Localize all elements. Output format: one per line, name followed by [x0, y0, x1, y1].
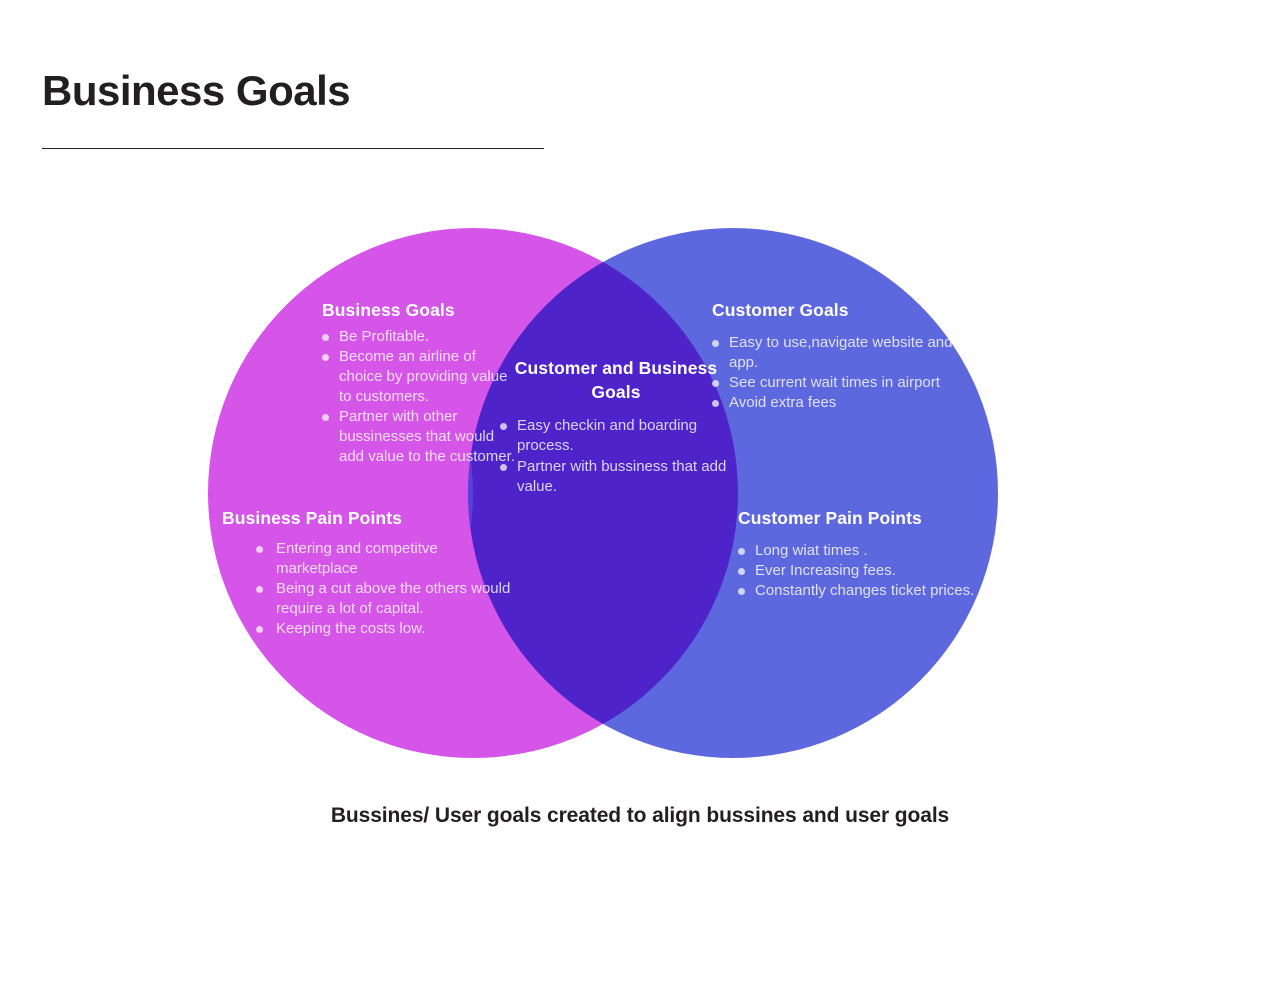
bullet-dot-icon	[712, 400, 719, 407]
list-item: Be Profitable.	[322, 327, 522, 347]
list-item-text: Avoid extra fees	[729, 394, 836, 411]
bullet-dot-icon	[712, 340, 719, 347]
diagram-caption: Bussines/ User goals created to align bu…	[0, 804, 1280, 828]
list-item-text: Entering and competitve marketplace	[276, 540, 438, 577]
list-item: Easy to use,navigate website and mobile …	[712, 333, 998, 373]
list-item-text: Become an airline of choice by providing…	[339, 348, 507, 405]
bullet-dot-icon	[322, 334, 329, 341]
list-item: Ever Increasing fees.	[738, 561, 988, 581]
list-business-goals: Be Profitable. Become an airline of choi…	[322, 327, 522, 467]
bullet-dot-icon	[712, 380, 719, 387]
section-heading-customer-goals: Customer Goals	[712, 300, 998, 321]
section-customer-goals: Customer Goals Easy to use,navigate webs…	[712, 300, 998, 413]
list-item-text: Easy to use,navigate website and mobile …	[729, 334, 998, 371]
bullet-dot-icon	[322, 354, 329, 361]
list-item: Become an airline of choice by providing…	[322, 347, 522, 407]
bullet-dot-icon	[738, 588, 745, 595]
list-item: Partner with other bussinesses that woul…	[322, 407, 522, 467]
section-heading-customer-and-business-goals: Customer and Business Goals	[500, 356, 732, 404]
list-item: Avoid extra fees	[712, 393, 998, 413]
bullet-dot-icon	[500, 464, 507, 471]
bullet-dot-icon	[256, 586, 263, 593]
list-item: Being a cut above the others would requi…	[256, 579, 512, 619]
list-item-text: Partner with bussiness that add value.	[517, 458, 726, 495]
list-item-text: Keeping the costs low.	[276, 620, 425, 637]
list-customer-goals: Easy to use,navigate website and mobile …	[712, 333, 998, 413]
list-business-pain-points: Entering and competitve marketplace Bein…	[222, 539, 512, 639]
bullet-dot-icon	[500, 423, 507, 430]
section-business-pain-points: Business Pain Points Entering and compet…	[222, 508, 512, 639]
list-item: Constantly changes ticket prices.	[738, 581, 988, 601]
list-item: Easy checkin and boarding process.	[500, 416, 732, 456]
venn-diagram: Business Goals Be Profitable. Become an …	[0, 0, 1280, 800]
section-heading-business-goals: Business Goals	[322, 300, 522, 321]
list-item-text: Being a cut above the others would requi…	[276, 580, 510, 617]
section-customer-pain-points: Customer Pain Points Long wiat times . E…	[738, 508, 988, 601]
list-item: See current wait times in airport	[712, 373, 998, 393]
section-heading-business-pain-points: Business Pain Points	[222, 508, 512, 529]
list-item: Partner with bussiness that add value.	[500, 457, 732, 497]
bullet-dot-icon	[256, 626, 263, 633]
section-customer-and-business-goals: Customer and Business Goals Easy checkin…	[500, 356, 732, 498]
list-item: Keeping the costs low.	[256, 619, 512, 639]
list-item: Entering and competitve marketplace	[256, 539, 512, 579]
list-item-text: Be Profitable.	[339, 328, 429, 345]
bullet-dot-icon	[738, 548, 745, 555]
list-item-text: Ever Increasing fees.	[755, 562, 896, 579]
list-item-text: See current wait times in airport	[729, 374, 940, 391]
list-item-text: Long wiat times .	[755, 542, 868, 559]
list-item: Long wiat times .	[738, 541, 988, 561]
list-customer-pain-points: Long wiat times . Ever Increasing fees. …	[738, 541, 988, 601]
section-heading-customer-pain-points: Customer Pain Points	[738, 508, 988, 529]
list-item-text: Easy checkin and boarding process.	[517, 417, 697, 454]
section-business-goals: Business Goals Be Profitable. Become an …	[322, 300, 522, 467]
bullet-dot-icon	[738, 568, 745, 575]
bullet-dot-icon	[322, 414, 329, 421]
bullet-dot-icon	[256, 546, 263, 553]
list-item-text: Partner with other bussinesses that woul…	[339, 408, 515, 465]
list-customer-and-business-goals: Easy checkin and boarding process. Partn…	[500, 416, 732, 497]
list-item-text: Constantly changes ticket prices.	[755, 582, 974, 599]
